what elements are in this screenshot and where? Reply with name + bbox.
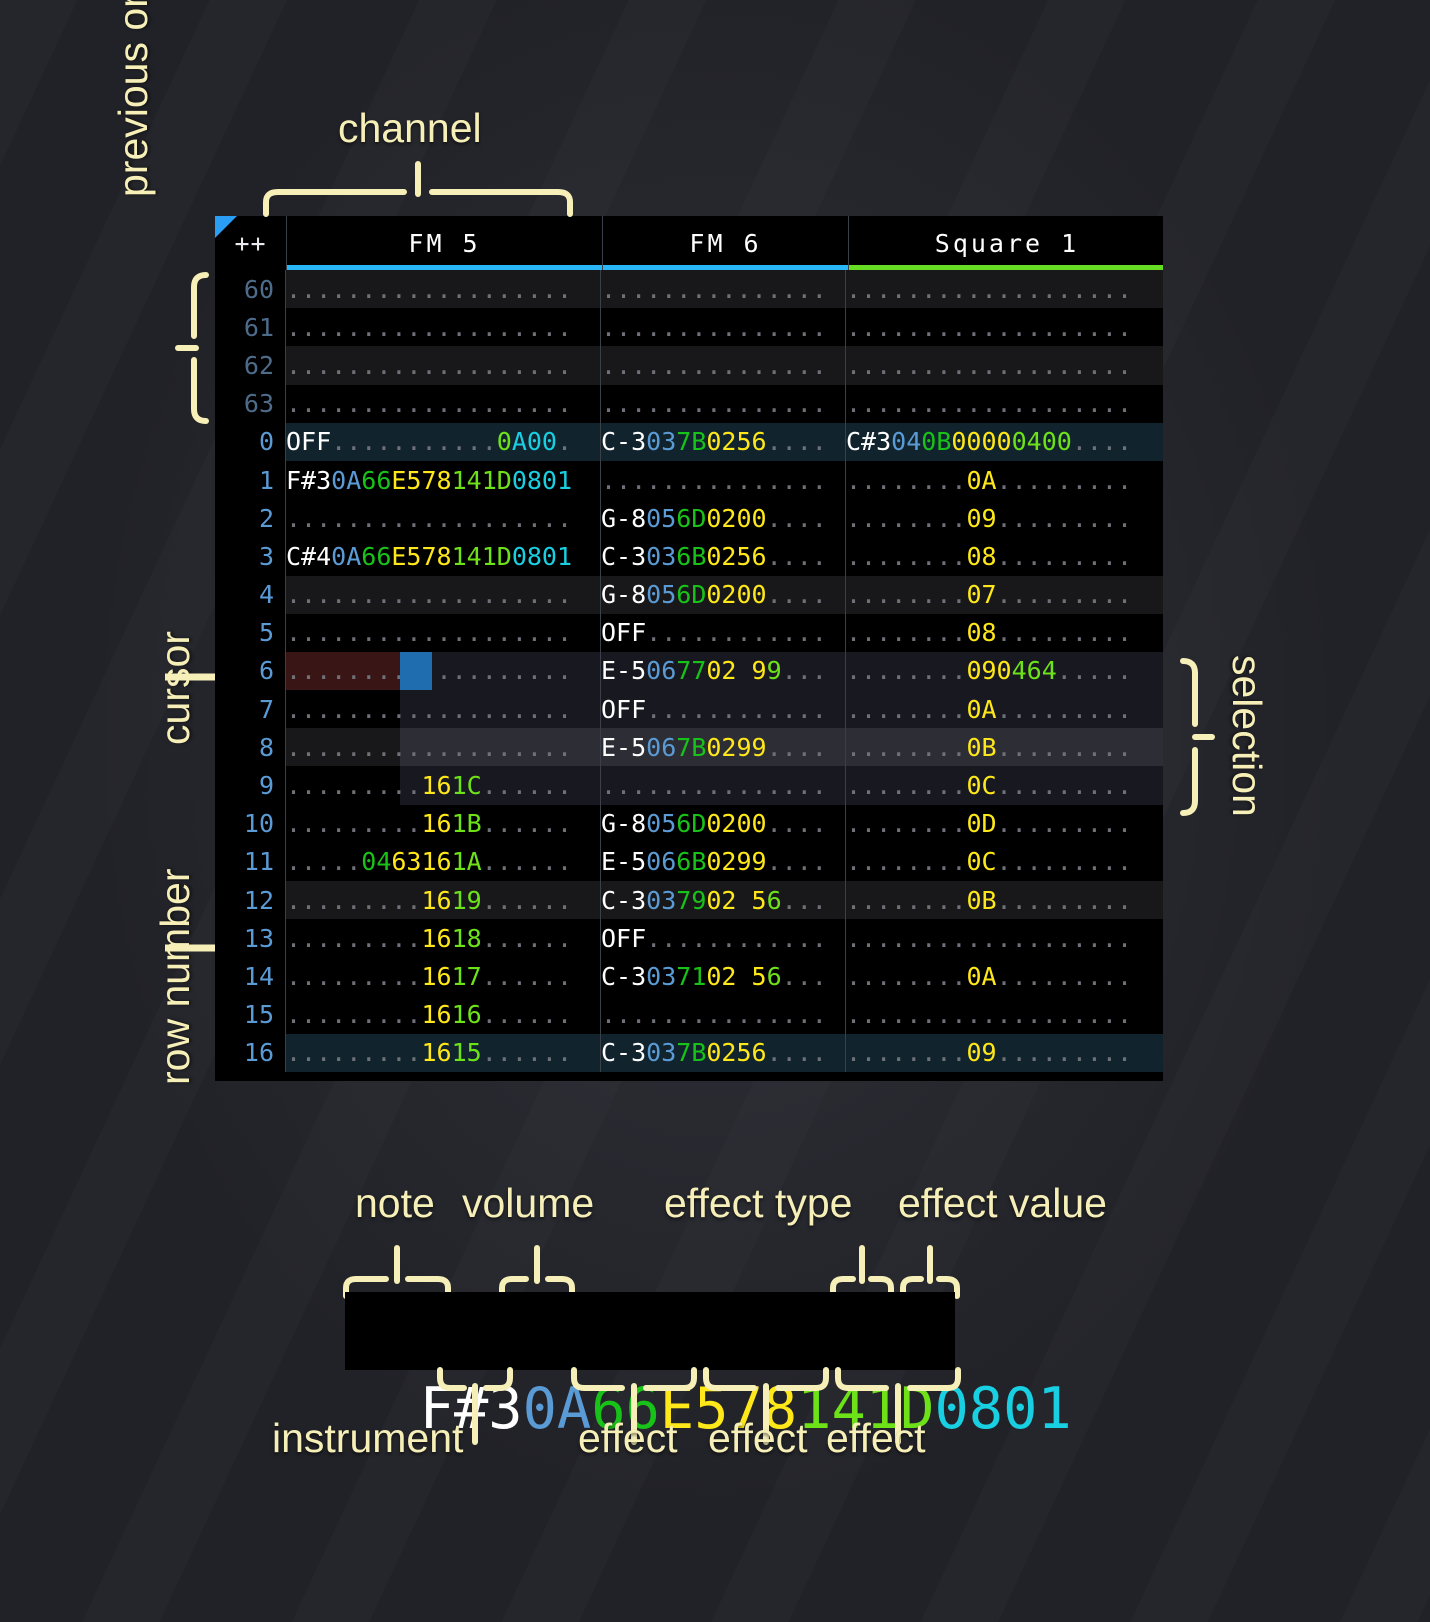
- channel-cell[interactable]: ...............: [601, 461, 846, 499]
- pattern-row[interactable]: 5...................OFF.................…: [215, 614, 1163, 652]
- channel-cell[interactable]: C-3036B0256....: [601, 537, 846, 575]
- channel-cell[interactable]: ...............: [601, 346, 846, 384]
- channel-cell[interactable]: ........09.........: [846, 1034, 1162, 1072]
- channel-cell[interactable]: ...............: [601, 766, 846, 804]
- annotation-effect1: effect: [578, 1415, 678, 1462]
- channel-cell[interactable]: ...................: [846, 996, 1162, 1034]
- channel-cell[interactable]: C-3037B0256....: [601, 1034, 846, 1072]
- row-cells: ...................G-8056D0200..........…: [286, 576, 1163, 614]
- row-cells: ...................G-8056D0200..........…: [286, 499, 1163, 537]
- channel-cell[interactable]: .........1617......: [286, 957, 601, 995]
- row-cells: ........................................…: [286, 308, 1163, 346]
- row-cells: F#30A66E578141D0801.....................…: [286, 461, 1163, 499]
- channel-cell[interactable]: .........1618......: [286, 919, 601, 957]
- channel-header-bar: ++ FM 5 FM 6 Square 1: [215, 216, 1163, 270]
- channel-cell[interactable]: ...............: [601, 270, 846, 308]
- channel-name-fm6: FM 6: [689, 229, 761, 258]
- row-number-cell[interactable]: 62: [215, 346, 286, 384]
- channel-cell[interactable]: ...................: [846, 385, 1162, 423]
- row-cells: .........161B......G-8056D0200..........…: [286, 805, 1163, 843]
- bracket-note: [342, 1246, 452, 1298]
- row-cells: .........161C...........................…: [286, 766, 1163, 804]
- row-cells: .........1616...........................…: [286, 996, 1163, 1034]
- row-cells: ........................................…: [286, 346, 1163, 384]
- channel-cell[interactable]: OFF............: [601, 690, 846, 728]
- channel-cell[interactable]: ........0A.........: [846, 957, 1162, 995]
- channel-cell[interactable]: ...................: [286, 270, 601, 308]
- channel-cell[interactable]: ........0B.........: [846, 728, 1162, 766]
- channel-cell[interactable]: ........0B.........: [846, 881, 1162, 919]
- row-number-cell[interactable]: 10: [215, 805, 286, 843]
- channel-cell[interactable]: ........08.........: [846, 537, 1162, 575]
- channel-name-fm5: FM 5: [408, 229, 480, 258]
- channel-cell[interactable]: E-5067702 99...: [601, 652, 846, 690]
- channel-cell[interactable]: ........090464.....: [846, 652, 1162, 690]
- channel-cell[interactable]: ........09.........: [846, 499, 1162, 537]
- annotation-previous-order: previous order: [110, 0, 157, 197]
- row-number-cell[interactable]: 6: [215, 652, 286, 690]
- annotation-channel: channel: [338, 105, 482, 152]
- pattern-row[interactable]: 1F#30A66E578141D0801....................…: [215, 461, 1163, 499]
- channel-cell[interactable]: E-5067B0299....: [601, 728, 846, 766]
- bracket-effect-type: [829, 1246, 895, 1298]
- channel-cell[interactable]: ...................: [846, 919, 1162, 957]
- pattern-row[interactable]: 62......................................…: [215, 346, 1163, 384]
- channel-cell[interactable]: ........0C.........: [846, 843, 1162, 881]
- row-cells: OFF...........0A00.C-3037B0256....C#3040…: [286, 423, 1163, 461]
- channel-cell[interactable]: ........08.........: [846, 614, 1162, 652]
- row-cells: ...................E-5067B0299..........…: [286, 728, 1163, 766]
- row-number-cell[interactable]: 8: [215, 728, 286, 766]
- row-number-cell[interactable]: 3: [215, 537, 286, 575]
- annotation-instrument: instrument: [272, 1415, 463, 1462]
- annotation-note: note: [355, 1180, 435, 1227]
- row-cells: ........................................…: [286, 270, 1163, 308]
- row-number-cell[interactable]: 13: [215, 919, 286, 957]
- pattern-row[interactable]: 60......................................…: [215, 270, 1163, 308]
- row-cells: .........1615......C-3037B0256..........…: [286, 1034, 1163, 1072]
- channel-cell[interactable]: ...................: [846, 308, 1162, 346]
- pattern-row[interactable]: 4...................G-8056D0200.........…: [215, 576, 1163, 614]
- channel-header-fm6[interactable]: FM 6: [603, 216, 849, 270]
- row-number-cell[interactable]: 12: [215, 881, 286, 919]
- row-number-cell[interactable]: 14: [215, 957, 286, 995]
- channel-cell[interactable]: OFF............: [601, 614, 846, 652]
- pattern-row[interactable]: 0OFF...........0A00.C-3037B0256....C#304…: [215, 423, 1163, 461]
- pattern-row[interactable]: 11.....0463161A......E-5066B0299........…: [215, 843, 1163, 881]
- channel-header-square1[interactable]: Square 1: [849, 216, 1163, 270]
- row-number-cell[interactable]: 9: [215, 766, 286, 804]
- annotation-effect-value: effect value: [898, 1180, 1107, 1227]
- row-cells: ...................E-5067702 99.........…: [286, 652, 1163, 690]
- row-number-cell[interactable]: 61: [215, 308, 286, 346]
- pattern-row[interactable]: 3C#40A66E578141D0801C-3036B0256.........…: [215, 537, 1163, 575]
- channel-cell[interactable]: ...................: [286, 690, 601, 728]
- row-cells: .........1618......OFF..................…: [286, 919, 1163, 957]
- row-number-cell[interactable]: 2: [215, 499, 286, 537]
- legend-pattern-row: F#30A66E578141D0801: [345, 1292, 955, 1370]
- row-number-cell[interactable]: 5: [215, 614, 286, 652]
- channel-cell[interactable]: C-3037B0256....: [601, 423, 846, 461]
- annotation-effect2: effect: [708, 1415, 808, 1462]
- channel-cell[interactable]: ...................: [286, 576, 601, 614]
- row-number-cell[interactable]: 4: [215, 576, 286, 614]
- pattern-row[interactable]: 2...................G-8056D0200.........…: [215, 499, 1163, 537]
- pattern-row[interactable]: 16.........1615......C-3037B0256........…: [215, 1034, 1163, 1072]
- channel-cell[interactable]: .........161B......: [286, 805, 601, 843]
- bracket-volume: [498, 1246, 576, 1298]
- row-number-cell[interactable]: 1: [215, 461, 286, 499]
- bracket-previous-order: [176, 272, 210, 424]
- annotation-effect3: effect: [826, 1415, 926, 1462]
- legend-effect3: 0801: [934, 1376, 1071, 1442]
- channel-cell[interactable]: G-8056D0200....: [601, 805, 846, 843]
- row-number-cell[interactable]: 60: [215, 270, 286, 308]
- channel-cell[interactable]: OFF............: [601, 919, 846, 957]
- channel-cell[interactable]: E-5066B0299....: [601, 843, 846, 881]
- channel-name-square1: Square 1: [935, 229, 1079, 258]
- row-number-cell[interactable]: 0: [215, 423, 286, 461]
- channel-cell[interactable]: C-3037902 56...: [601, 881, 846, 919]
- row-number-cell[interactable]: 16: [215, 1034, 286, 1072]
- channel-cell[interactable]: ...................: [286, 614, 601, 652]
- channel-cell[interactable]: ...................: [286, 385, 601, 423]
- channel-cell[interactable]: ........0D.........: [846, 805, 1162, 843]
- pattern-row[interactable]: 9.........161C..........................…: [215, 766, 1163, 804]
- row-number-cell[interactable]: 63: [215, 385, 286, 423]
- pattern-row[interactable]: 13.........1618......OFF................…: [215, 919, 1163, 957]
- channel-cell[interactable]: .........1616......: [286, 996, 601, 1034]
- pattern-row[interactable]: 15.........1616.........................…: [215, 996, 1163, 1034]
- pattern-row[interactable]: 7...................OFF.................…: [215, 690, 1163, 728]
- channel-cell[interactable]: G-8056D0200....: [601, 576, 846, 614]
- row-cells: ...................OFF..................…: [286, 614, 1163, 652]
- annotation-effect-type: effect type: [664, 1180, 852, 1227]
- channel-cell[interactable]: ...................: [286, 652, 601, 690]
- pattern-row[interactable]: 10.........161B......G-8056D0200........…: [215, 805, 1163, 843]
- row-cells: .........1617......C-3037102 56.........…: [286, 957, 1163, 995]
- channel-cell[interactable]: .........1615......: [286, 1034, 601, 1072]
- channel-cell[interactable]: ...................: [286, 308, 601, 346]
- annotation-row-number: row number: [152, 869, 199, 1085]
- channel-cell[interactable]: ........0A.........: [846, 461, 1162, 499]
- channel-cell[interactable]: F#30A66E578141D0801: [286, 461, 601, 499]
- row-number-cell[interactable]: 7: [215, 690, 286, 728]
- row-number-cell[interactable]: 11: [215, 843, 286, 881]
- pattern-row[interactable]: 61......................................…: [215, 308, 1163, 346]
- channel-cell[interactable]: C#3040B00000400....: [846, 423, 1162, 461]
- channel-cell[interactable]: C-3037102 56...: [601, 957, 846, 995]
- channel-cell[interactable]: ...................: [286, 499, 601, 537]
- channel-cell[interactable]: ...................: [286, 346, 601, 384]
- bracket-effect-value: [899, 1246, 961, 1298]
- annotation-cursor: cursor: [152, 631, 199, 745]
- channel-cell[interactable]: OFF...........0A00.: [286, 423, 601, 461]
- pattern-row[interactable]: 63......................................…: [215, 385, 1163, 423]
- pattern-row[interactable]: 8...................E-5067B0299.........…: [215, 728, 1163, 766]
- channel-cell[interactable]: ........0C.........: [846, 766, 1162, 804]
- channel-cell[interactable]: C#40A66E578141D0801: [286, 537, 601, 575]
- channel-cell[interactable]: .....0463161A......: [286, 843, 601, 881]
- channel-cell[interactable]: .........161C......: [286, 766, 601, 804]
- channel-cell[interactable]: ........0A.........: [846, 690, 1162, 728]
- order-indicator-label: ++: [234, 229, 266, 258]
- row-cells: ...................OFF..................…: [286, 690, 1163, 728]
- channel-header-fm5[interactable]: FM 5: [287, 216, 603, 270]
- channel-cell[interactable]: ........07.........: [846, 576, 1162, 614]
- pattern-row[interactable]: 6...................E-5067702 99........…: [215, 652, 1163, 690]
- channel-cell[interactable]: ...................: [846, 346, 1162, 384]
- pattern-rows[interactable]: 60......................................…: [215, 270, 1163, 1072]
- order-indicator-cell[interactable]: ++: [215, 216, 287, 270]
- channel-cell[interactable]: ...............: [601, 385, 846, 423]
- row-cells: ........................................…: [286, 385, 1163, 423]
- pattern-editor[interactable]: ++ FM 5 FM 6 Square 1 60................…: [215, 216, 1163, 1081]
- pattern-row[interactable]: 14.........1617......C-3037102 56.......…: [215, 957, 1163, 995]
- annotation-selection: selection: [1223, 655, 1270, 817]
- row-number-cell[interactable]: 15: [215, 996, 286, 1034]
- channel-cell[interactable]: ...............: [601, 308, 846, 346]
- bracket-channel: [262, 162, 574, 218]
- channel-cell[interactable]: .........1619......: [286, 881, 601, 919]
- channel-cell[interactable]: ...................: [286, 728, 601, 766]
- row-cells: .....0463161A......E-5066B0299..........…: [286, 843, 1163, 881]
- annotation-volume: volume: [462, 1180, 594, 1227]
- channel-cell[interactable]: ...................: [846, 270, 1162, 308]
- corner-triangle-icon: [215, 216, 237, 238]
- pattern-row[interactable]: 12.........1619......C-3037902 56.......…: [215, 881, 1163, 919]
- row-cells: C#40A66E578141D0801C-3036B0256..........…: [286, 537, 1163, 575]
- channel-cell[interactable]: ...............: [601, 996, 846, 1034]
- row-cells: .........1619......C-3037902 56.........…: [286, 881, 1163, 919]
- channel-cell[interactable]: G-8056D0200....: [601, 499, 846, 537]
- bracket-selection: [1178, 658, 1214, 816]
